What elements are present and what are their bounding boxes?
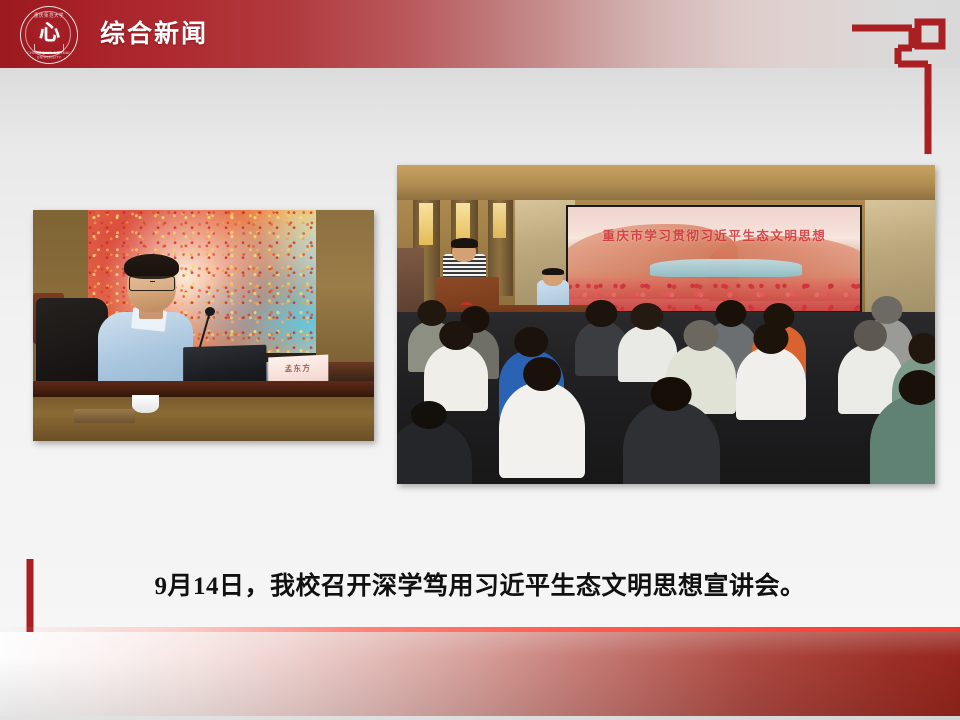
audience-head — [411, 401, 447, 430]
audience-head — [871, 296, 902, 323]
emblem-mark-glyph: 心 — [39, 22, 59, 43]
audience-head — [715, 300, 746, 327]
audience-member — [623, 401, 720, 484]
news-slide: 重庆师范大学 心 CHONGQING NORMAL UNIVERSITY 综合新… — [0, 0, 960, 720]
audience-head — [515, 327, 549, 357]
audience-head — [753, 323, 788, 354]
audience-head — [417, 300, 446, 327]
audience-member — [736, 347, 806, 420]
podium-speaker-hair — [451, 238, 478, 248]
photo-speaker-at-podium[interactable]: 孟东方 — [33, 210, 374, 441]
slide-caption: 9月14日，我校召开深学笃用习近平生态文明思想宣讲会。 — [0, 566, 960, 602]
speaker-eyeglasses — [129, 276, 175, 291]
audience-member — [499, 382, 585, 478]
emblem-arc-bottom-text: CHONGQING NORMAL UNIVERSITY — [21, 51, 77, 60]
footer-hairline — [0, 716, 960, 720]
audience-head — [854, 320, 886, 350]
photo-lecture-hall-audience[interactable]: 重庆市学习贯彻习近平生态文明思想 — [397, 165, 935, 484]
photo-left-canvas: 孟东方 — [33, 210, 374, 441]
audience-head — [523, 357, 561, 391]
stage-led-screen: 重庆市学习贯彻习近平生态文明思想 — [566, 205, 862, 313]
desk-documents — [74, 409, 135, 423]
screen-river — [650, 259, 802, 277]
desk-nameplate-text: 孟东方 — [268, 361, 328, 374]
emblem-arc-top-text: 重庆师范大学 — [21, 12, 77, 19]
hall-ceiling — [397, 165, 935, 200]
footer-band-shading — [0, 632, 960, 720]
audience-head — [631, 303, 664, 331]
wall-lamp-1 — [419, 203, 433, 244]
audience-head — [586, 300, 617, 327]
desk-front-edge — [33, 381, 374, 397]
audience-head — [909, 333, 935, 364]
audience-head — [439, 321, 473, 350]
audience-head — [899, 370, 935, 405]
side-seat — [397, 248, 424, 312]
audience-head — [651, 377, 692, 412]
tea-cup — [132, 395, 159, 413]
wall-lamp-3 — [493, 203, 506, 238]
audience-head — [683, 320, 718, 350]
screen-headline-text: 重庆市学习贯彻习近平生态文明思想 — [568, 225, 860, 244]
wall-panel-right — [316, 210, 374, 362]
corner-decoration-top-right-icon — [850, 8, 946, 158]
stage-attendee-hair — [542, 268, 564, 276]
photo-right-canvas: 重庆市学习贯彻习近平生态文明思想 — [397, 165, 935, 484]
page-title: 综合新闻 — [100, 14, 208, 54]
university-emblem-icon: 重庆师范大学 心 CHONGQING NORMAL UNIVERSITY — [20, 6, 78, 64]
